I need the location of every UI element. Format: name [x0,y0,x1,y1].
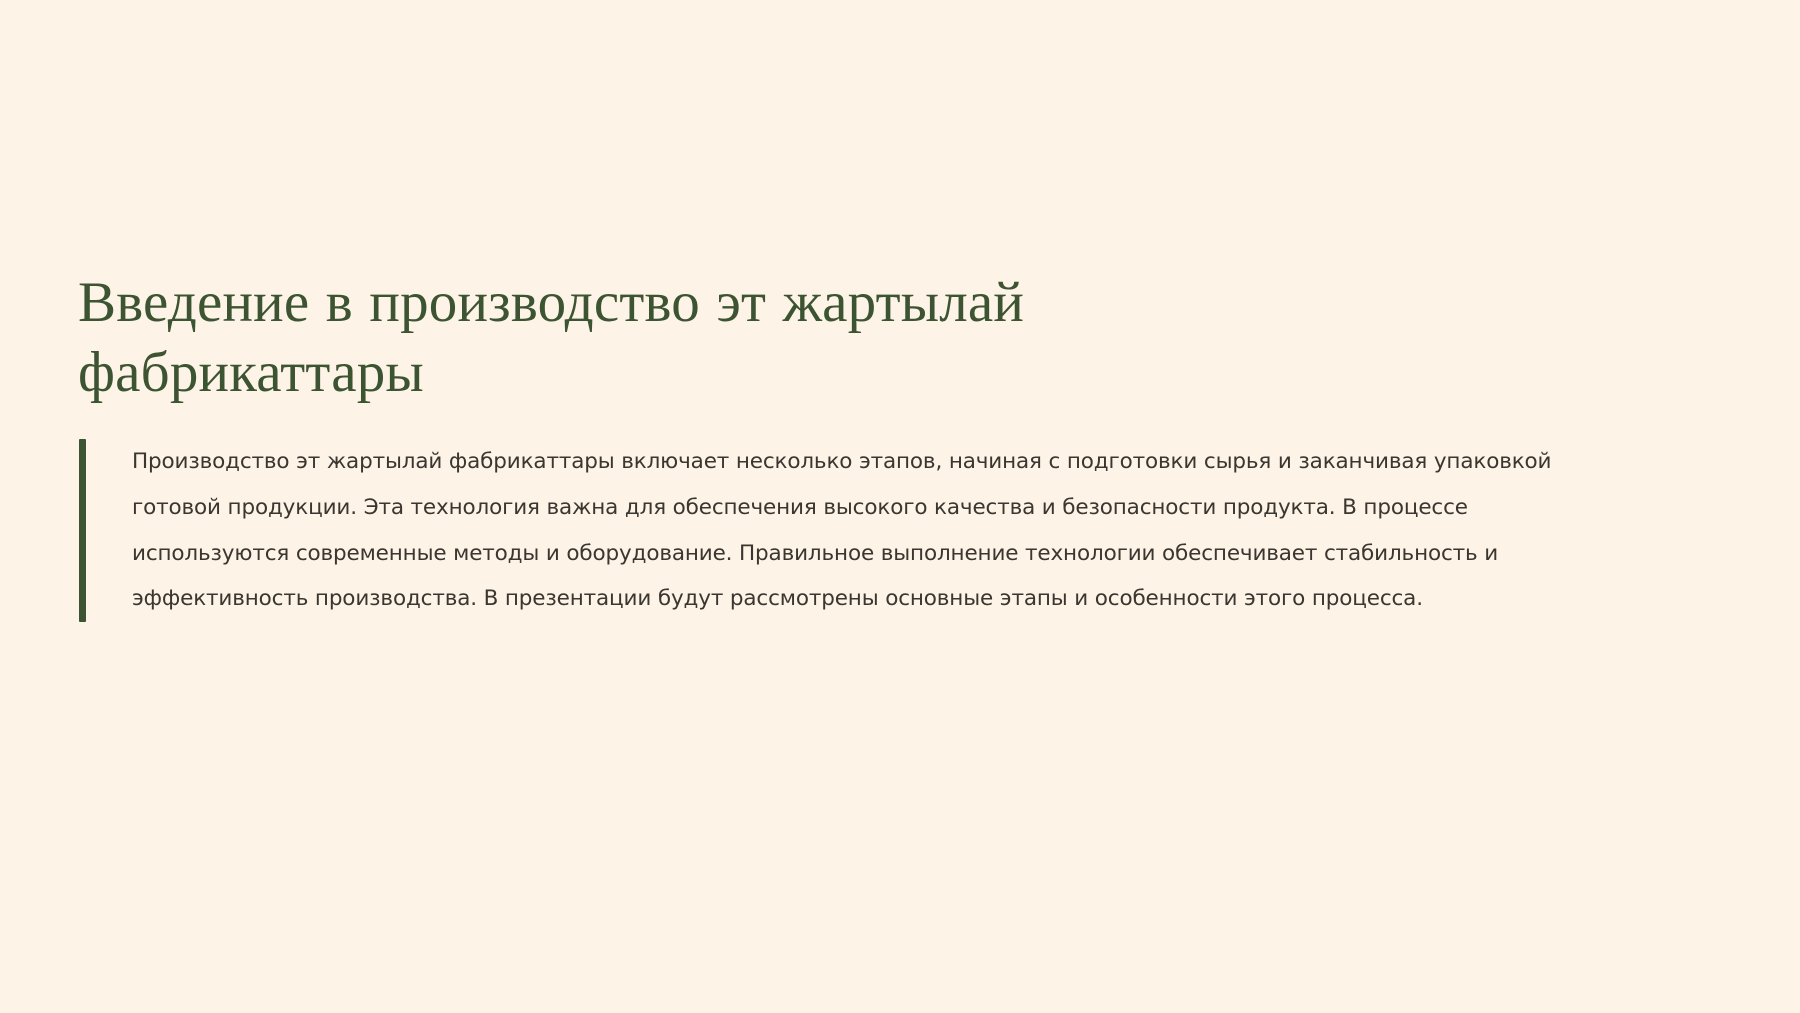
accent-bar [79,439,86,622]
body-paragraph: Производство эт жартылай фабрикаттары вк… [86,439,1552,622]
slide-content: Введение в производство эт жартылай фабр… [78,268,1698,622]
body-callout: Производство эт жартылай фабрикаттары вк… [78,439,1638,622]
page-title: Введение в производство эт жартылай фабр… [78,268,1318,407]
presentation-slide: Введение в производство эт жартылай фабр… [0,0,1800,1013]
